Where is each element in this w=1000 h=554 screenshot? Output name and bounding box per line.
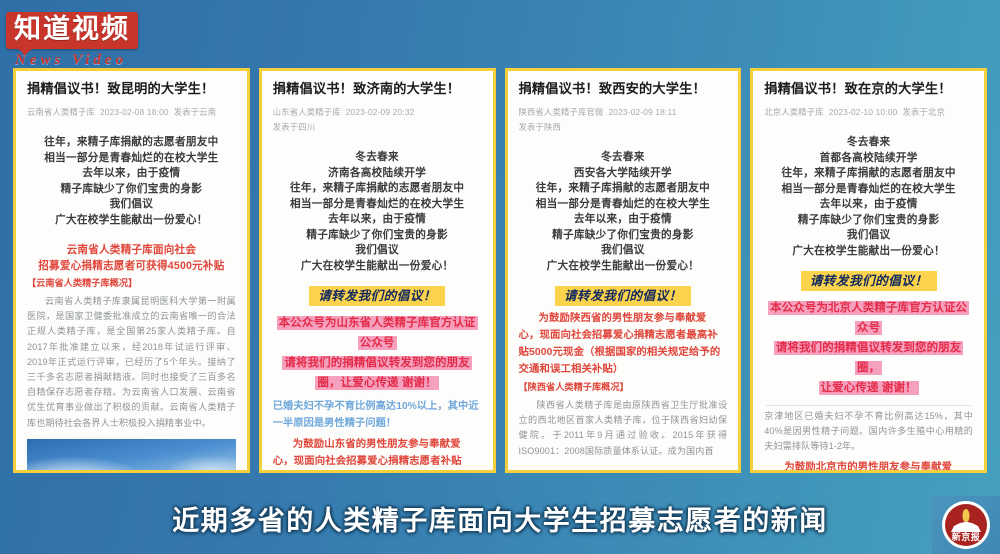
section-divider <box>766 405 971 406</box>
share-call-to-action: 请转发我们的倡议！ <box>273 286 482 306</box>
seal-inner: 新京报 <box>945 504 987 546</box>
pink-line: 圈， <box>764 358 973 378</box>
red-line: 招募爱心捐精志愿者可获得4500元补贴 <box>27 258 236 274</box>
body-line: 济南各高校陆续开学 <box>273 166 482 182</box>
body-line: 冬去春来 <box>519 150 728 166</box>
article-highlight-red: 云南省人类精子库面向社会 招募爱心捐精志愿者可获得4500元补贴 【云南省人类精… <box>27 242 236 291</box>
article-source: 山东省人类精子库 <box>273 107 341 117</box>
video-caption: 近期多省的人类精子库面向大学生招募志愿者的新闻 <box>0 499 1000 538</box>
body-line: 去年以来，由于疫情 <box>273 212 482 228</box>
article-meta: 北京人类精子库2023-02-10 10:00发表于北京 <box>764 106 973 119</box>
article-location: 发表于陕西 <box>519 121 728 134</box>
article-grey-paragraph: 陕西省人类精子库是由原陕西省卫生厅批准设立的西北地区首家人类精子库，位于陕西省妇… <box>519 398 728 459</box>
red-heading: 【云南省人类精子库概况】 <box>27 276 236 291</box>
body-line: 精子库缺少了你们宝贵的身影 <box>27 182 236 198</box>
yellow-highlight-text: 请转发我们的倡议！ <box>801 271 937 291</box>
article-location: 发表于云南 <box>174 107 217 117</box>
body-line: 相当一部分是青春灿烂的在校大学生 <box>27 151 236 167</box>
pink-line: 公众号 <box>273 333 482 353</box>
body-line: 首都各高校陆续开学 <box>764 151 973 167</box>
body-line: 精子库缺少了你们宝贵的身影 <box>764 213 973 229</box>
body-line: 往年，来精子库捐献的志愿者朋友中 <box>273 181 482 197</box>
article-card[interactable]: 捐精倡议书！致昆明的大学生！ 云南省人类精子库2023-02-08 18:00发… <box>13 68 250 473</box>
article-source: 云南省人类精子库 <box>27 107 95 117</box>
article-red-note: 为鼓励陕西省的男性朋友参与奉献爱心，现面向社会招募爱心捐精志愿者最高补贴5000… <box>519 310 728 378</box>
gate-icon <box>951 521 981 532</box>
article-meta: 云南省人类精子库2023-02-08 18:00发表于云南 <box>27 106 236 119</box>
body-line: 精子库缺少了你们宝贵的身影 <box>519 228 728 244</box>
pink-text: 圈， <box>855 361 882 375</box>
article-location: 发表于北京 <box>902 107 945 117</box>
body-line: 往年，来精子库捐献的志愿者朋友中 <box>27 135 236 151</box>
share-call-to-action: 请转发我们的倡议！ <box>519 286 728 306</box>
body-line: 我们倡议 <box>27 197 236 213</box>
article-title: 捐精倡议书！致济南的大学生！ <box>273 81 482 99</box>
article-card-content: 捐精倡议书！致济南的大学生！ 山东省人类精子库2023-02-09 20:32 … <box>262 71 493 470</box>
article-meta: 陕西省人类精子库官微2023-02-09 18:11 <box>519 106 728 119</box>
article-datetime: 2023-02-09 20:32 <box>346 107 415 117</box>
red-heading: 【陕西省人类精子库概况】 <box>519 380 728 395</box>
pink-highlight-block: 本公众号为北京人类精子库官方认证公众号 请将我们的捐精倡议转发到您的朋友 圈， … <box>764 298 973 398</box>
body-line: 西安各大学陆续开学 <box>519 166 728 182</box>
watermark-label: 新京报 <box>945 533 987 544</box>
body-line: 广大在校学生能献出一份爱心！ <box>519 259 728 275</box>
pink-line: 请将我们的捐精倡议转发到您的朋友 <box>764 338 973 358</box>
article-body: 冬去春来 济南各高校陆续开学 往年，来精子库捐献的志愿者朋友中 相当一部分是青春… <box>273 150 482 274</box>
body-line: 往年，来精子库捐献的志愿者朋友中 <box>519 181 728 197</box>
body-line: 去年以来，由于疫情 <box>519 212 728 228</box>
caption-text: 近期多省的人类精子库面向大学生招募志愿者的新闻 <box>172 499 828 538</box>
article-red-note: 为鼓励北京市的男性朋友参与奉献爱心，现面向社会招募爱心捐精志愿者，最高补贴 <box>764 459 973 470</box>
article-card-content: 捐精倡议书！致昆明的大学生！ 云南省人类精子库2023-02-08 18:00发… <box>16 71 247 470</box>
logo-chinese-title: 知道视频 <box>14 15 130 45</box>
pink-line: 让爱心传递 谢谢！ <box>764 378 973 398</box>
body-line: 相当一部分是青春灿烂的在校大学生 <box>519 197 728 213</box>
pink-text: 本公众号为北京人类精子库官方认证公众号 <box>768 301 969 335</box>
article-blue-note: 已婚夫妇不孕不育比例高达10%以上，其中近一半原因是男性精子问题！ <box>273 399 482 432</box>
article-body: 冬去春来 首都各高校陆续开学 往年，来精子库捐献的志愿者朋友中 相当一部分是青春… <box>764 135 973 259</box>
body-line: 广大在校学生能献出一份爱心！ <box>273 259 482 275</box>
logo-badge: 知道视频 <box>6 12 138 49</box>
pink-text: 圈，让爱心传递 谢谢！ <box>315 376 438 390</box>
article-title: 捐精倡议书！致在京的大学生！ <box>764 81 973 99</box>
article-grey-paragraph: 京津地区已婚夫妇不孕不育比例高达15%，其中40%是因男性精子问题。国内许多生殖… <box>764 409 973 455</box>
body-line: 精子库缺少了你们宝贵的身影 <box>273 228 482 244</box>
pink-text: 公众号 <box>358 336 397 350</box>
article-card[interactable]: 捐精倡议书！致济南的大学生！ 山东省人类精子库2023-02-09 20:32 … <box>259 68 496 473</box>
article-body: 冬去春来 西安各大学陆续开学 往年，来精子库捐献的志愿者朋友中 相当一部分是青春… <box>519 150 728 274</box>
article-card-grid: 捐精倡议书！致昆明的大学生！ 云南省人类精子库2023-02-08 18:00发… <box>13 68 987 473</box>
body-line: 我们倡议 <box>273 243 482 259</box>
body-line: 广大在校学生能献出一份爱心！ <box>27 213 236 229</box>
yellow-highlight-text: 请转发我们的倡议！ <box>309 286 445 306</box>
pink-line: 本公众号为山东省人类精子库官方认证 <box>273 313 482 333</box>
body-line: 相当一部分是青春灿烂的在校大学生 <box>273 197 482 213</box>
logo-speech-tail-icon <box>16 47 34 55</box>
beijing-news-seal-icon: 新京报 <box>942 501 990 549</box>
article-source: 北京人类精子库 <box>764 107 823 117</box>
article-title: 捐精倡议书！致昆明的大学生！ <box>27 81 236 99</box>
pink-text: 本公众号为山东省人类精子库官方认证 <box>277 316 478 330</box>
red-line: 云南省人类精子库面向社会 <box>27 242 236 258</box>
article-meta: 山东省人类精子库2023-02-09 20:32 <box>273 106 482 119</box>
flame-icon <box>963 509 970 522</box>
channel-logo: 知道视频 News Video <box>6 12 178 64</box>
pink-text: 请将我们的捐精倡议转发到您的朋友 <box>282 356 471 370</box>
article-source: 陕西省人类精子库官微 <box>519 107 604 117</box>
article-red-note: 为鼓励山东省的男性朋友参与奉献爱心，现面向社会招募爱心捐精志愿者补贴5000元 <box>273 436 482 470</box>
article-datetime: 2023-02-09 18:11 <box>608 107 676 117</box>
article-body: 往年，来精子库捐献的志愿者朋友中 相当一部分是青春灿烂的在校大学生 去年以来，由… <box>27 135 236 228</box>
article-datetime: 2023-02-08 18:00 <box>100 107 169 117</box>
pink-line: 请将我们的捐精倡议转发到您的朋友 <box>273 353 482 373</box>
pink-highlight-block: 本公众号为山东省人类精子库官方认证 公众号 请将我们的捐精倡议转发到您的朋友 圈… <box>273 313 482 393</box>
article-title: 捐精倡议书！致西安的大学生！ <box>519 81 728 99</box>
video-frame: 知道视频 News Video 捐精倡议书！致昆明的大学生！ 云南省人类精子库2… <box>0 0 1000 554</box>
body-line: 我们倡议 <box>519 243 728 259</box>
body-line: 往年，来精子库捐献的志愿者朋友中 <box>764 166 973 182</box>
pink-line: 圈，让爱心传递 谢谢！ <box>273 373 482 393</box>
article-card-content: 捐精倡议书！致西安的大学生！ 陕西省人类精子库官微2023-02-09 18:1… <box>508 71 739 470</box>
pink-text: 请将我们的捐精倡议转发到您的朋友 <box>774 341 963 355</box>
share-call-to-action: 请转发我们的倡议！ <box>764 271 973 291</box>
body-line: 广大在校学生能献出一份爱心！ <box>764 244 973 260</box>
pink-text: 让爱心传递 谢谢！ <box>819 381 919 395</box>
blue-sky-clouds-photo <box>27 439 236 470</box>
article-grey-paragraph: 云南省人类精子库隶属昆明医科大学第一附属医院，是国家卫健委批准成立的云南省唯一的… <box>27 294 236 431</box>
article-card-content: 捐精倡议书！致在京的大学生！ 北京人类精子库2023-02-10 10:00发表… <box>753 71 984 470</box>
body-line: 相当一部分是青春灿烂的在校大学生 <box>764 182 973 198</box>
body-line: 去年以来，由于疫情 <box>764 197 973 213</box>
article-location: 发表于四川 <box>273 121 482 134</box>
body-line: 去年以来，由于疫情 <box>27 166 236 182</box>
article-datetime: 2023-02-10 10:00 <box>829 107 898 117</box>
publisher-watermark: 新京报 <box>932 496 1000 554</box>
article-card[interactable]: 捐精倡议书！致西安的大学生！ 陕西省人类精子库官微2023-02-09 18:1… <box>505 68 742 473</box>
body-line: 我们倡议 <box>764 228 973 244</box>
body-line: 冬去春来 <box>764 135 973 151</box>
yellow-highlight-text: 请转发我们的倡议！ <box>555 286 691 306</box>
body-line: 冬去春来 <box>273 150 482 166</box>
pink-line: 本公众号为北京人类精子库官方认证公众号 <box>764 298 973 338</box>
article-card[interactable]: 捐精倡议书！致在京的大学生！ 北京人类精子库2023-02-10 10:00发表… <box>750 68 987 473</box>
